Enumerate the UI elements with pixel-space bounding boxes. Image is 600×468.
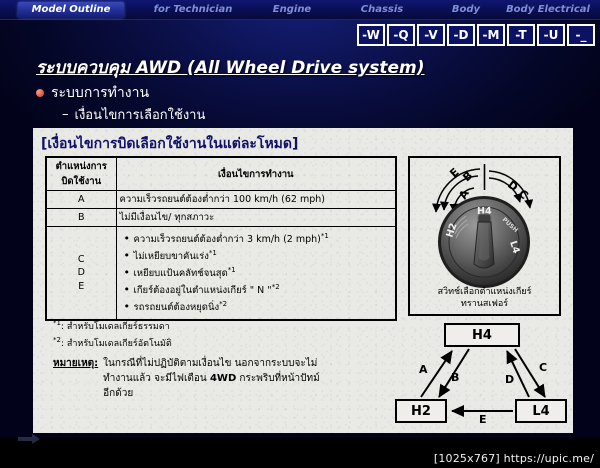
back-navigation-icon[interactable] (10, 432, 52, 446)
table-cell-position-cde: C D E (46, 227, 116, 321)
footnote-marker: *2 (53, 336, 61, 344)
nav-tab-body[interactable]: Body (434, 2, 498, 18)
sub-heading-selection-conditions: – เงื่อนไขการเลือกใช้งาน (62, 104, 205, 125)
table-row: C D E ความเร็วรถยนต์ต้องต่ำกว่า 3 km/h (… (46, 227, 396, 321)
condition-note: *1 (209, 249, 217, 257)
note-line3: อีกด้วย (103, 388, 133, 399)
nav-tab-engine[interactable]: Engine (252, 2, 332, 18)
image-watermark: [1025x767] https://upic.me/ (434, 452, 594, 465)
footnote-text: : สำหรับโมเดลเกียร์ธรรมดา (61, 322, 170, 332)
bullet-dot-icon (36, 89, 44, 97)
condition-item: เกียร์ต้องอยู่ในตำแหน่งเกียร์ " N "*2 (122, 282, 393, 299)
key-button-w[interactable]: -W (357, 24, 385, 46)
key-button-m[interactable]: -M (477, 24, 505, 46)
dial-switch-graphic: D C A B E H2 (410, 158, 559, 288)
edge-label-e: E (479, 413, 487, 426)
arrow-label-b: B (460, 169, 475, 184)
edge-label-c: C (539, 361, 547, 374)
key-button-t[interactable]: -T (507, 24, 535, 46)
arrow-label-e: E (447, 166, 461, 181)
slide-title: ระบบควบคุม AWD (All Wheel Drive system) (36, 54, 425, 81)
key-button-underscore[interactable]: -_ (567, 24, 595, 46)
condition-note: *2 (272, 283, 280, 291)
table-cell-condition-b: ไม่มีเงื่อนไข/ ทุกสภาวะ (116, 209, 396, 227)
position-letter-c: C (50, 253, 113, 267)
key-button-d[interactable]: -D (447, 24, 475, 46)
key-button-v[interactable]: -V (417, 24, 445, 46)
shortcut-key-row: -W -Q -V -D -M -T -U -_ (357, 24, 595, 46)
note-label: หมายเหตุ: (53, 356, 98, 401)
table-cell-position-b: B (46, 209, 116, 227)
table-header-row: ตำแหน่งการ บิดใช้งาน เงื่อนไขการทำงาน (46, 157, 396, 191)
nav-tab-chassis[interactable]: Chassis (342, 2, 422, 18)
note-line2-c: กระพริบที่หน้าปัทม์ (236, 373, 319, 384)
note-block: หมายเหตุ: ในกรณีที่ไม่ปฏิบัติตามเงื่อนไข… (53, 356, 398, 401)
nav-tab-body-electrical[interactable]: Body Electrical (500, 2, 596, 18)
table-cell-condition-a: ความเร็วรถยนต์ต้องต่ำกว่า 100 km/h (62 m… (116, 191, 396, 209)
top-navigation-bar: Model Outline for Technician Engine Chas… (0, 0, 600, 20)
condition-list: ความเร็วรถยนต์ต้องต่ำกว่า 3 km/h (2 mph)… (122, 231, 393, 315)
position-letter-d: D (50, 266, 113, 280)
condition-text: ความเร็วรถยนต์ต้องต่ำกว่า 3 km/h (2 mph) (134, 234, 321, 245)
edge-label-b: B (451, 371, 459, 384)
table-row: A ความเร็วรถยนต์ต้องต่ำกว่า 100 km/h (62… (46, 191, 396, 209)
footnote-item: *2: สำหรับโมเดลเกียร์อัตโนมัติ (53, 335, 172, 352)
table-row: B ไม่มีเงื่อนไข/ ทุกสภาวะ (46, 209, 396, 227)
condition-note: *1 (321, 232, 329, 240)
nav-tab-for-technician[interactable]: for Technician (138, 2, 248, 18)
mode-transition-diagram: H4 H2 L4 A B C D E (395, 323, 567, 428)
key-button-u[interactable]: -U (537, 24, 565, 46)
condition-text: ไม่เหยียบขาคันเร่ง (134, 251, 209, 262)
dial-caption-line2: ทรานสเฟอร์ (410, 298, 559, 310)
table-header-position-line1: ตำแหน่งการ (56, 161, 107, 172)
condition-note: *2 (219, 300, 227, 308)
note-body: ในกรณีที่ไม่ปฏิบัติตามเงื่อนไข นอกจากระบ… (103, 356, 320, 401)
mode-node-l4: L4 (515, 399, 567, 423)
note-line1: ในกรณีที่ไม่ปฏิบัติตามเงื่อนไข นอกจากระบ… (103, 358, 317, 369)
condition-text: เหยียบแป้นคลัทช์จนสุด (134, 268, 228, 279)
mode-node-h2: H2 (395, 399, 447, 423)
condition-item: เหยียบแป้นคลัทช์จนสุด*1 (122, 265, 393, 282)
slide-stage: Model Outline for Technician Engine Chas… (0, 0, 600, 468)
dial-caption-line1: สวิทช์เลือกตำแหน่งเกียร์ (410, 286, 559, 298)
table-header-position: ตำแหน่งการ บิดใช้งาน (46, 157, 116, 191)
condition-text: เกียร์ต้องอยู่ในตำแหน่งเกียร์ " N " (134, 285, 272, 296)
condition-item: ความเร็วรถยนต์ต้องต่ำกว่า 3 km/h (2 mph)… (122, 231, 393, 248)
table-header-position-line2: บิดใช้งาน (61, 176, 101, 187)
note-line2-a: ทำงานแล้ว จะมีไฟเตือน (103, 373, 210, 384)
footnote-item: *1: สำหรับโมเดลเกียร์ธรรมดา (53, 318, 172, 335)
position-letter-e: E (50, 280, 113, 294)
section-heading-operation: ระบบการทำงาน (36, 82, 149, 104)
condition-item: รถรถยนต์ต้องหยุดนิ่ง*2 (122, 299, 393, 316)
note-line2-highlight: 4WD (210, 373, 236, 384)
section-heading-label: ระบบการทำงาน (51, 82, 149, 104)
transfer-switch-illustration: D C A B E H2 (408, 156, 561, 316)
table-header-condition: เงื่อนไขการทำงาน (116, 157, 396, 191)
edge-label-a: A (419, 363, 428, 376)
edge-label-d: D (505, 373, 514, 386)
condition-text: รถรถยนต์ต้องหยุดนิ่ง (134, 302, 220, 313)
conditions-table: ตำแหน่งการ บิดใช้งาน เงื่อนไขการทำงาน A … (45, 156, 397, 321)
content-panel: [เงื่อนไขการบิดเลือกใช้งานในแต่ละโหมด] ต… (33, 128, 573, 433)
footnote-marker: *1 (53, 319, 61, 327)
footnotes: *1: สำหรับโมเดลเกียร์ธรรมดา *2: สำหรับโม… (53, 318, 172, 352)
sub-heading-label: เงื่อนไขการเลือกใช้งาน (75, 104, 206, 125)
key-button-q[interactable]: -Q (387, 24, 415, 46)
footnote-text: : สำหรับโมเดลเกียร์อัตโนมัติ (61, 339, 172, 349)
condition-item: ไม่เหยียบขาคันเร่ง*1 (122, 248, 393, 265)
dash-icon: – (62, 107, 69, 122)
arrow-label-d: D (505, 178, 520, 194)
panel-title: [เงื่อนไขการบิดเลือกใช้งานในแต่ละโหมด] (41, 133, 298, 155)
dial-caption: สวิทช์เลือกตำแหน่งเกียร์ ทรานสเฟอร์ (410, 286, 559, 310)
table-cell-condition-cde: ความเร็วรถยนต์ต้องต่ำกว่า 3 km/h (2 mph)… (116, 227, 396, 321)
nav-tab-model-outline[interactable]: Model Outline (18, 2, 124, 18)
table-cell-position-a: A (46, 191, 116, 209)
mode-node-h4: H4 (444, 323, 520, 347)
condition-note: *1 (228, 266, 236, 274)
